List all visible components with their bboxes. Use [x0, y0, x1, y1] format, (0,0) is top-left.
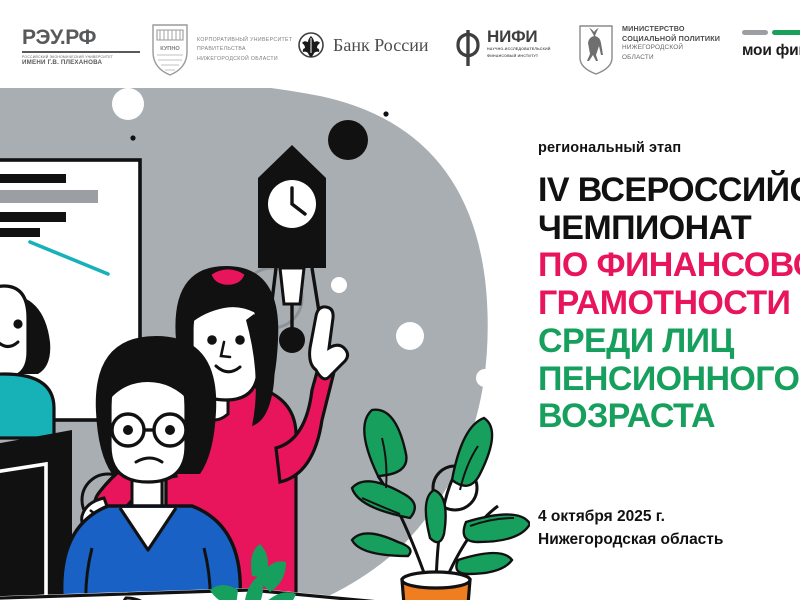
nifi-sub-2: ФИНАНСОВЫЙ ИНСТИТУТ	[487, 54, 551, 59]
poster-root: РЭУ.РФ РОССИЙСКИЙ ЭКОНОМИЧЕСКИЙ УНИВЕРСИ…	[0, 0, 800, 600]
kupno-line-1: КОРПОРАТИВНЫЙ УНИВЕРСИТЕТ	[197, 36, 292, 46]
logo-nifi: НИФИ НАУЧНО-ИССЛЕДОВАТЕЛЬСКИЙ ФИНАНСОВЫЙ…	[455, 28, 551, 68]
logo-kupno-text: КОРПОРАТИВНЫЙ УНИВЕРСИТЕТ ПРАВИТЕЛЬСТВА …	[197, 36, 292, 65]
nizhny-deer-coat-of-arms-icon	[578, 24, 614, 76]
min-plain-1: НИЖЕГОРОДСКОЙ	[622, 44, 720, 53]
min-bold-1: МИНИСТЕРСТВО	[622, 24, 720, 34]
illustration-svg	[0, 78, 530, 600]
min-plain-2: ОБЛАСТИ	[622, 54, 720, 63]
title-line-3: ПО ФИНАНСОВОЙ	[538, 247, 800, 285]
logo-bank-rossii-wordmark: Банк России	[333, 35, 428, 56]
nifi-phi-icon	[455, 28, 481, 68]
dot-black-1	[328, 120, 368, 160]
moi-bar-gray	[742, 30, 768, 35]
logo-moi-finansy-wordmark: мои финансы	[742, 42, 800, 60]
logo-bank-rossii: Банк России	[298, 32, 428, 58]
title-line-2: ЧЕМПИОНАТ	[538, 210, 800, 248]
logo-rguf-wordmark: РЭУ.РФ	[22, 27, 142, 48]
kupno-line-2: ПРАВИТЕЛЬСТВА	[197, 45, 292, 55]
logo-nifi-text: НИФИ НАУЧНО-ИССЛЕДОВАТЕЛЬСКИЙ ФИНАНСОВЫЙ…	[487, 28, 551, 60]
logo-ministerstvo: МИНИСТЕРСТВО СОЦИАЛЬНОЙ ПОЛИТИКИ НИЖЕГОР…	[578, 24, 720, 76]
illustration	[0, 78, 530, 600]
min-bold-2: СОЦИАЛЬНОЙ ПОЛИТИКИ	[622, 34, 720, 44]
event-region: Нижегородская область	[538, 528, 800, 551]
kupno-shield-icon: КУПНО	[150, 22, 190, 78]
logo-nifi-wordmark: НИФИ	[487, 28, 551, 45]
title-line-4: ГРАМОТНОСТИ	[538, 285, 800, 323]
title-line-7: ВОЗРАСТА	[538, 398, 800, 436]
kupno-line-3: НИЖЕГОРОДСКОЙ ОБЛАСТИ	[197, 55, 292, 65]
bank-rossii-emblem-icon	[298, 32, 324, 58]
title-line-1: IV ВСЕРОССИЙСКИЙ	[538, 172, 800, 210]
logo-moi-finansy: мои финансы	[742, 30, 800, 60]
logo-rguf-name: ИМЕНИ Г.В. ПЛЕХАНОВА	[22, 59, 142, 67]
dot-white-5	[476, 369, 494, 387]
moi-bar-green	[772, 30, 800, 35]
logo-rguf-rule	[22, 51, 140, 53]
logo-rguf: РЭУ.РФ РОССИЙСКИЙ ЭКОНОМИЧЕСКИЙ УНИВЕРСИ…	[22, 27, 142, 67]
dot-white-4	[396, 322, 424, 350]
poster-kicker: региональный этап	[538, 140, 800, 156]
poster-text-block: региональный этап IV ВСЕРОССИЙСКИЙ ЧЕМПИ…	[538, 140, 800, 436]
logo-ministerstvo-text: МИНИСТЕРСТВО СОЦИАЛЬНОЙ ПОЛИТИКИ НИЖЕГОР…	[622, 24, 720, 63]
title-line-6: ПЕНСИОННОГО	[538, 361, 800, 399]
svg-text:КУПНО: КУПНО	[160, 46, 180, 52]
logo-kupno: КУПНО КОРПОРАТИВНЫЙ УНИВЕРСИТЕТ ПРАВИТЕЛ…	[150, 22, 292, 78]
dot-tiny-2	[130, 135, 135, 140]
dot-white-2	[331, 277, 347, 293]
moi-finansy-bars-icon	[742, 30, 800, 35]
dot-tiny-1	[383, 111, 388, 116]
title-line-5: СРЕДИ ЛИЦ	[538, 323, 800, 361]
event-date-location: 4 октября 2025 г. Нижегородская область	[538, 505, 800, 552]
nifi-sub-1: НАУЧНО-ИССЛЕДОВАТЕЛЬСКИЙ	[487, 47, 551, 52]
event-date: 4 октября 2025 г.	[538, 505, 800, 528]
dot-white-1	[112, 88, 144, 120]
sponsor-logo-bar: РЭУ.РФ РОССИЙСКИЙ ЭКОНОМИЧЕСКИЙ УНИВЕРСИ…	[0, 0, 800, 88]
